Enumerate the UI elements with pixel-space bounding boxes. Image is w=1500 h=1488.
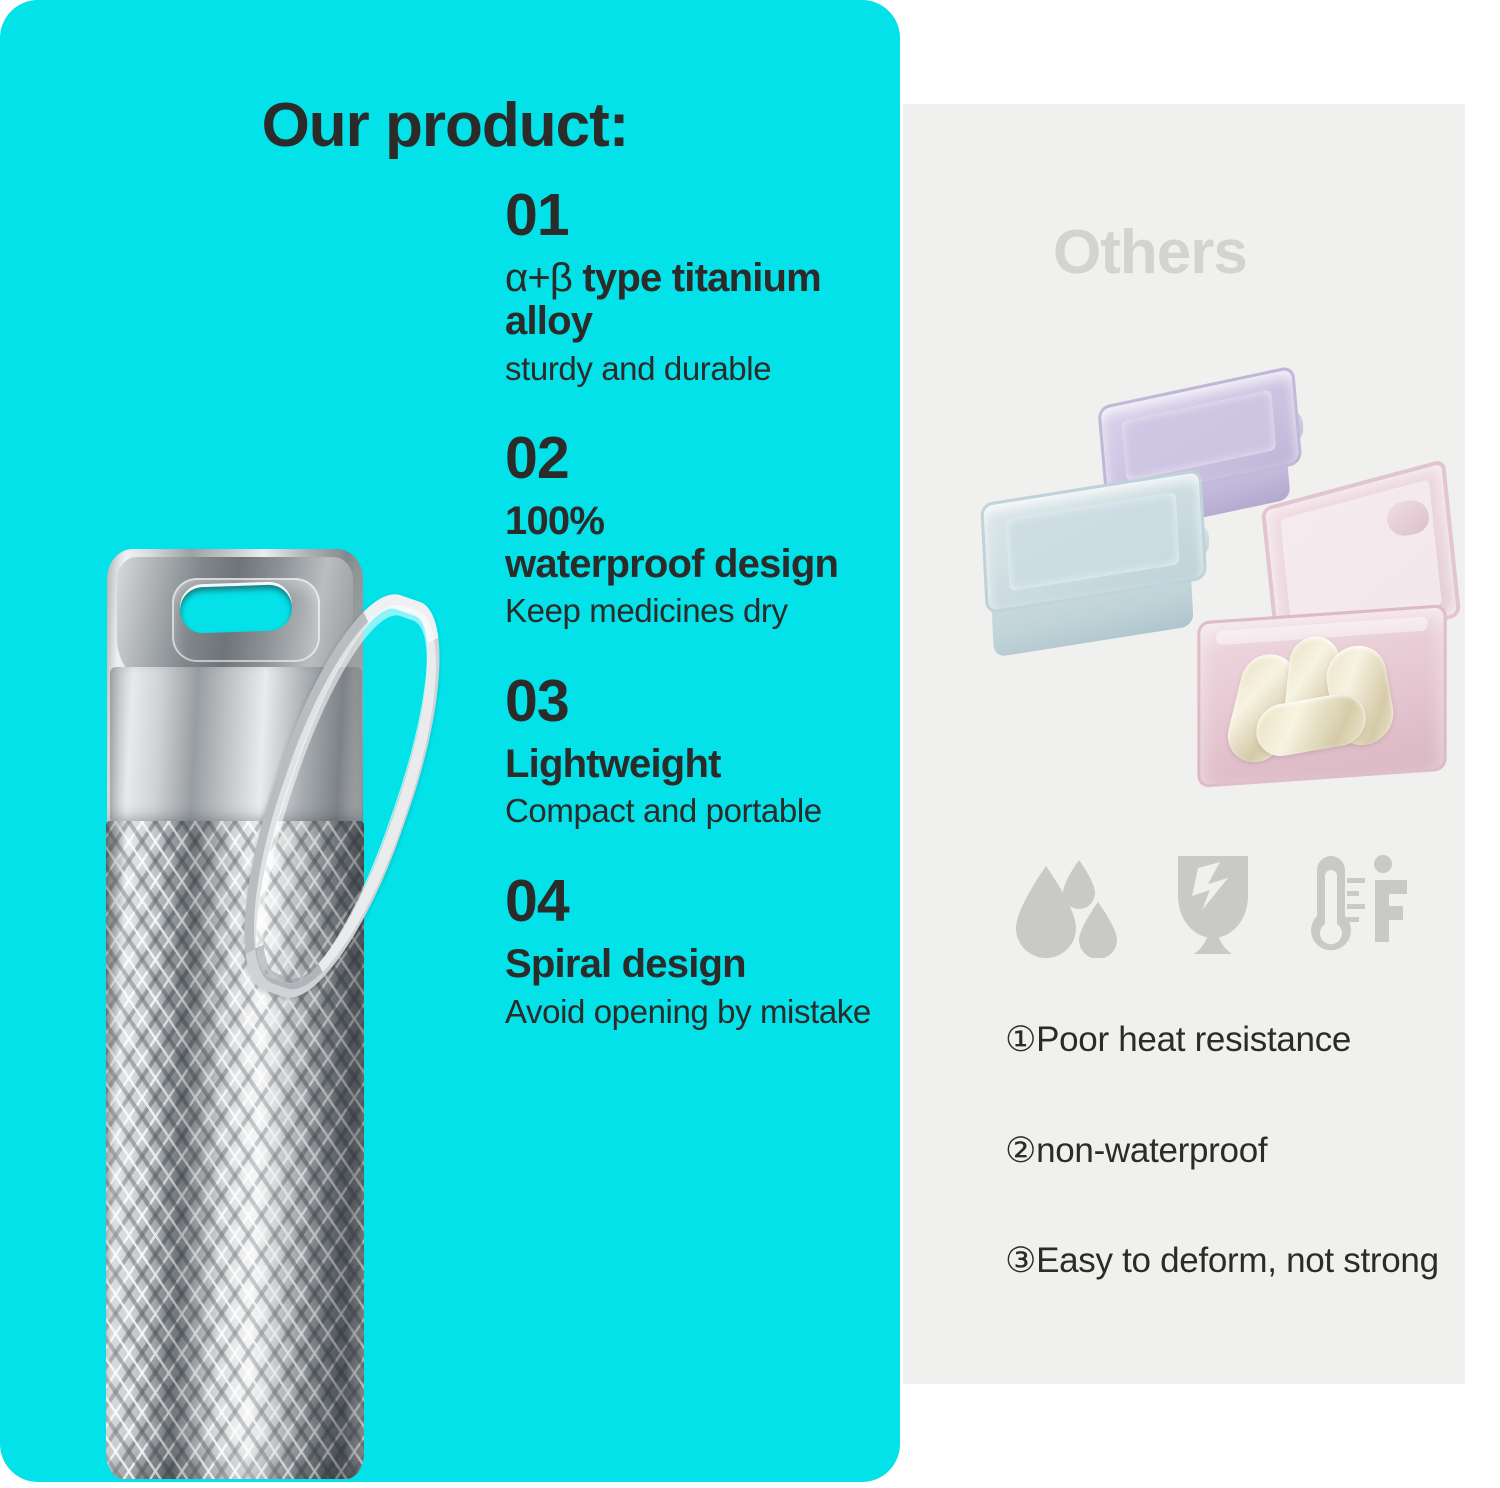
feature-headline: Lightweight	[505, 743, 880, 786]
others-title: Others	[1053, 217, 1247, 288]
others-panel: Others	[903, 104, 1465, 1384]
warning-icon-row	[1013, 846, 1413, 958]
feature-subtext: Avoid opening by mistake	[505, 992, 880, 1032]
feature-list: 01 α+β type titanium alloy sturdy and du…	[505, 186, 880, 1032]
page-title: Our product:	[0, 90, 890, 161]
water-droplets-icon	[1013, 850, 1123, 958]
feature-number: 04	[505, 872, 880, 931]
feature-headline: 100%waterproof design	[505, 500, 880, 586]
pill-box-tray	[1197, 604, 1446, 788]
feature-item-04: 04 Spiral design Avoid opening by mistak…	[505, 872, 880, 1032]
feature-item-01: 01 α+β type titanium alloy sturdy and du…	[505, 186, 880, 389]
feature-headline-bold: waterproof design	[505, 542, 838, 586]
others-photo-plastic-pill-boxes	[983, 375, 1463, 815]
cap-keyring-slot	[179, 584, 293, 634]
feature-headline: Spiral design	[505, 943, 880, 986]
feature-headline-light: α+β	[505, 256, 572, 300]
thermometer-fahrenheit-icon	[1303, 850, 1413, 958]
feature-subtext: Keep medicines dry	[505, 591, 880, 631]
feature-subtext: Compact and portable	[505, 791, 880, 831]
product-photo-titanium-pill-holder	[78, 521, 508, 1482]
feature-item-03: 03 Lightweight Compact and portable	[505, 672, 880, 832]
drawback-item: ②non-waterproof	[1005, 1130, 1455, 1173]
pill-box-blue	[980, 470, 1204, 665]
our-product-panel: Our product: 01 α+β type titanium alloy …	[0, 0, 900, 1482]
drawback-item: ③Easy to deform, not strong	[1005, 1240, 1455, 1283]
feature-subtext: sturdy and durable	[505, 349, 880, 389]
feature-number: 01	[505, 186, 880, 245]
feature-headline-light: 100%	[505, 499, 604, 543]
feature-item-02: 02 100%waterproof design Keep medicines …	[505, 429, 880, 632]
feature-headline: α+β type titanium alloy	[505, 257, 880, 343]
feature-number: 03	[505, 672, 880, 731]
titanium-bottle-illustration	[106, 549, 364, 1479]
broken-glass-icon	[1158, 850, 1268, 958]
feature-number: 02	[505, 429, 880, 488]
pill-box-pink-open	[1197, 483, 1447, 783]
drawback-list: ①Poor heat resistance ②non-waterproof ③E…	[1005, 984, 1455, 1283]
drawback-item: ①Poor heat resistance	[1005, 1019, 1455, 1062]
